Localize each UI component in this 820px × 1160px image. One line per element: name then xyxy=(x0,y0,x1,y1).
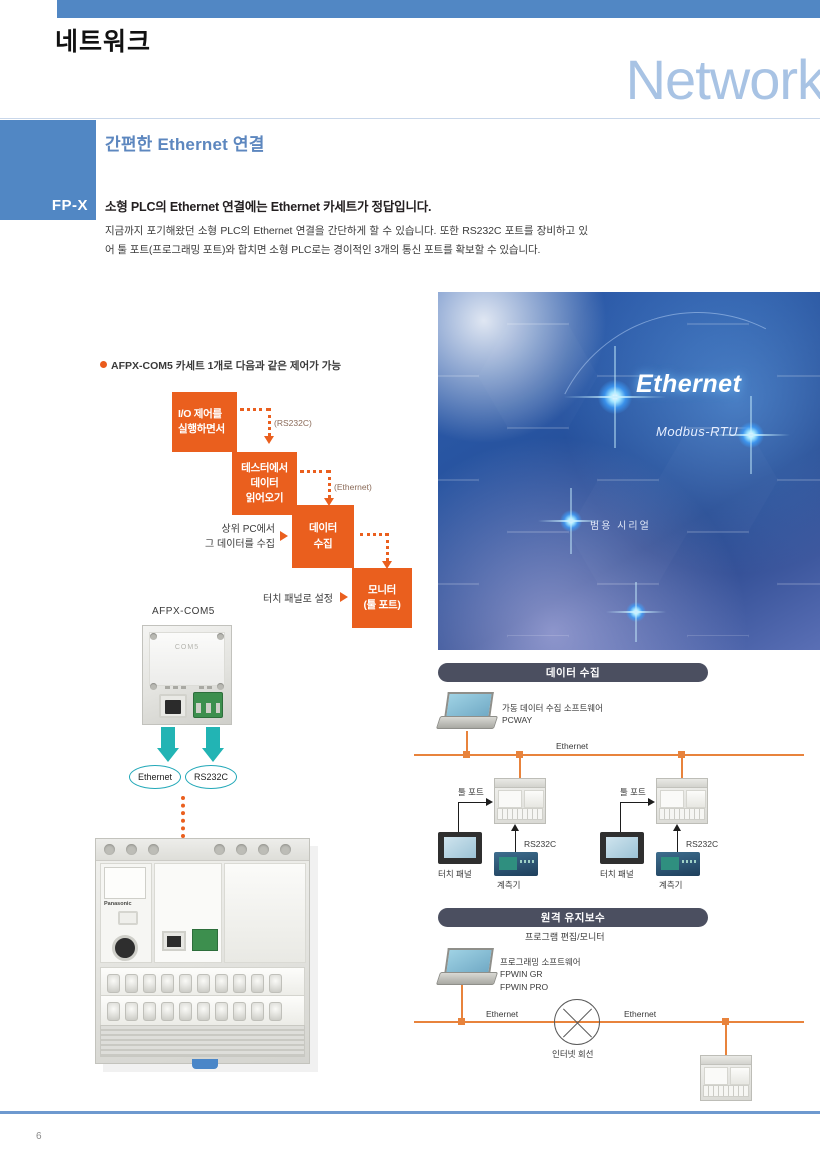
meter-icon-2 xyxy=(656,852,700,876)
remote-maintenance-subtitle: 프로그램 편집/모니터 xyxy=(525,931,605,944)
touch-panel-icon-1 xyxy=(438,832,482,864)
flow-connector-3-h xyxy=(360,533,388,536)
cassette-led-icon xyxy=(165,686,170,689)
touch-panel-label-2: 터치 패널 xyxy=(600,868,634,880)
callout-ethernet: Ethernet xyxy=(129,765,181,789)
tool-port-arrow-2-head-icon xyxy=(648,798,655,806)
cassette-led-icon xyxy=(173,686,178,689)
plc-screw-icon xyxy=(104,844,115,855)
plc-screw-icon xyxy=(126,844,137,855)
remote-bus-drop-plc xyxy=(725,1021,727,1055)
bus-node-icon xyxy=(458,1018,465,1025)
flow-connector-1-label: (RS232C) xyxy=(274,418,312,428)
flow-box-io-control: I/O 제어를 실행하면서 xyxy=(172,392,237,452)
teal-arrow-ethernet-shaft xyxy=(161,727,175,749)
flow-box-data-collect: 데이터 수집 xyxy=(292,505,354,568)
flow-connector-2-v xyxy=(328,470,331,498)
remote-bus-label-right: Ethernet xyxy=(624,1008,656,1020)
data-collect-pill-title: 데이터 수집 xyxy=(438,663,708,682)
ethernet-bus-line xyxy=(414,754,804,756)
rs232c-arrow-2-head-icon xyxy=(673,824,681,831)
flow-box-3-line2: 수집 xyxy=(309,537,337,552)
flow-connector-1-v xyxy=(268,408,271,436)
product-caption: AFPX-COM5 xyxy=(152,606,215,617)
callout-rs232c: RS232C xyxy=(185,765,237,789)
flow-connector-2-h xyxy=(300,470,330,473)
hero-node-glow xyxy=(560,510,582,532)
flow-box-2-line3: 읽어오기 xyxy=(241,491,288,506)
plc-din-clip-icon xyxy=(192,1059,218,1069)
hero-node-glow xyxy=(626,602,646,622)
plc-terminal-row-lower xyxy=(100,995,305,1027)
internet-line-icon xyxy=(554,999,600,1045)
cassette-ethernet-port-icon xyxy=(159,694,187,718)
plc-screw-icon xyxy=(280,844,291,855)
touch-panel-icon-2 xyxy=(600,832,644,864)
cassette-led-icon xyxy=(207,686,212,689)
hero-node-glow xyxy=(738,422,764,448)
pcway-software-label: 가동 데이터 수집 소프트웨어 PCWAY xyxy=(502,702,603,727)
flow-connector-3-arrow-icon xyxy=(382,561,392,569)
rs232c-arrow-1 xyxy=(515,828,516,852)
flow-side-label-touch-line1: 터치 패널로 설정 xyxy=(248,592,333,607)
plc-ethernet-port-icon xyxy=(162,931,186,951)
afpx-com5-cassette-photo: COM5 xyxy=(142,625,232,725)
tool-port-arrow-2-h xyxy=(620,802,648,803)
programming-laptop-icon xyxy=(438,948,496,988)
flow-side-label-pc-line2: 그 데이터를 수집 xyxy=(190,537,275,552)
rs232c-arrow-2 xyxy=(677,828,678,852)
bus-node-icon xyxy=(678,751,685,758)
remote-bus-label-left: Ethernet xyxy=(486,1008,518,1020)
plc-unit-icon-2 xyxy=(656,778,708,824)
teal-arrow-rs232c-shaft xyxy=(206,727,220,749)
flow-box-4-line2: (툴 포트) xyxy=(363,598,400,613)
hero-subtitle-modbus: Modbus-RTU xyxy=(656,424,738,439)
footer-divider xyxy=(0,1111,820,1114)
flow-connector-1-arrow-icon xyxy=(264,436,274,444)
mount-direction-dotted-line xyxy=(181,796,185,838)
internet-line-label: 인터넷 회선 xyxy=(552,1048,593,1060)
remote-bus-drop-pc xyxy=(461,985,463,1021)
flow-connector-2-arrow-icon xyxy=(324,498,334,506)
tool-port-label-1: 툴 포트 xyxy=(458,786,484,798)
fp-x-plc-photo: Panasonic xyxy=(95,838,310,1064)
plc-screw-icon xyxy=(236,844,247,855)
teal-arrow-rs232c-head-icon xyxy=(202,748,224,762)
flow-box-2-line2: 데이터 xyxy=(241,476,288,491)
tool-port-arrow-1-head-icon xyxy=(486,798,493,806)
teal-arrow-ethernet-head-icon xyxy=(157,748,179,762)
fpwin-line1: 프로그래밍 소프트웨어 xyxy=(500,956,581,968)
meter-label-1: 계측기 xyxy=(497,879,520,891)
flow-box-1-line2: 실행하면서 xyxy=(178,422,225,437)
flow-connector-1-h xyxy=(240,408,270,411)
bus-node-icon xyxy=(722,1018,729,1025)
cassette-led-icon xyxy=(199,686,204,689)
fpwin-line2: FPWIN GR xyxy=(500,968,581,980)
rs232c-label-2: RS232C xyxy=(686,838,718,850)
plc-indicator-table-icon xyxy=(104,867,146,899)
cassette-screw-icon xyxy=(217,683,224,690)
pc-laptop-icon xyxy=(438,692,496,732)
flow-connector-3-v xyxy=(386,533,389,561)
flow-box-2-line1: 테스터에서 xyxy=(241,461,288,476)
plc-tool-port-icon xyxy=(112,935,138,961)
meter-label-2: 계측기 xyxy=(659,879,682,891)
pcway-line1: 가동 데이터 수집 소프트웨어 xyxy=(502,702,603,714)
cassette-screw-icon xyxy=(217,633,224,640)
bus-label-ethernet: Ethernet xyxy=(556,740,588,752)
flow-side-arrow-pc-icon xyxy=(280,531,288,541)
flow-side-arrow-touch-icon xyxy=(340,592,348,602)
touch-panel-label-1: 터치 패널 xyxy=(438,868,472,880)
cassette-screw-icon xyxy=(150,633,157,640)
plc-screw-icon xyxy=(148,844,159,855)
flow-connector-2-label: (Ethernet) xyxy=(334,482,372,492)
plc-screw-icon xyxy=(258,844,269,855)
tool-port-label-2: 툴 포트 xyxy=(620,786,646,798)
flow-box-read-tester: 테스터에서 데이터 읽어오기 xyxy=(232,452,297,515)
hero-subtitle-serial: 범용 시리얼 xyxy=(590,517,651,532)
fpwin-line3: FPWIN PRO xyxy=(500,981,581,993)
remote-plc-unit-icon xyxy=(700,1055,752,1101)
programming-software-label: 프로그래밍 소프트웨어 FPWIN GR FPWIN PRO xyxy=(500,956,581,993)
rs232c-label-1: RS232C xyxy=(524,838,556,850)
plc-unit-icon-1 xyxy=(494,778,546,824)
cassette-silkscreen-label: COM5 xyxy=(143,644,231,651)
tool-port-arrow-1-h xyxy=(458,802,486,803)
plc-brand-mark: Panasonic xyxy=(104,901,132,907)
page-watermark-title: Network xyxy=(626,52,820,108)
page-number: 6 xyxy=(36,1131,42,1142)
cassette-screw-icon xyxy=(150,683,157,690)
rs232c-arrow-1-head-icon xyxy=(511,824,519,831)
meter-icon-1 xyxy=(494,852,538,876)
hero-node-glow xyxy=(598,380,632,414)
flow-box-4-line1: 모니터 xyxy=(363,583,400,598)
bus-node-icon xyxy=(516,751,523,758)
control-flow-diagram: I/O 제어를 실행하면서 테스터에서 데이터 읽어오기 데이터 수집 모니터 … xyxy=(0,0,440,640)
pcway-line2: PCWAY xyxy=(502,714,603,726)
remote-maintenance-pill-title: 원격 유지보수 xyxy=(438,908,708,927)
cassette-led-icon xyxy=(181,686,186,689)
flow-box-1-line1: I/O 제어를 xyxy=(178,407,225,422)
flow-side-label-pc: 상위 PC에서 그 데이터를 수집 xyxy=(190,522,275,552)
flow-side-label-pc-line1: 상위 PC에서 xyxy=(190,522,275,537)
flow-side-label-touch: 터치 패널로 설정 xyxy=(248,592,333,607)
plc-ventilation-grille xyxy=(100,1025,305,1057)
remote-bus-line xyxy=(414,1021,804,1023)
plc-usb-port-icon xyxy=(118,911,138,925)
brochure-page: 네트워크 Network FP-X 간편한 Ethernet 연결 소형 PLC… xyxy=(0,0,820,1160)
hero-title: Ethernet xyxy=(636,370,741,399)
ethernet-hero-image: Ethernet Modbus-RTU 범용 시리얼 xyxy=(438,292,820,650)
plc-right-cover xyxy=(224,863,306,963)
plc-green-terminal-icon xyxy=(192,929,218,951)
cassette-rs232c-terminal-icon xyxy=(193,692,223,718)
flow-box-monitor: 모니터 (툴 포트) xyxy=(352,568,412,628)
plc-screw-icon xyxy=(214,844,225,855)
bus-node-icon xyxy=(463,751,470,758)
flow-box-3-line1: 데이터 xyxy=(309,521,337,536)
